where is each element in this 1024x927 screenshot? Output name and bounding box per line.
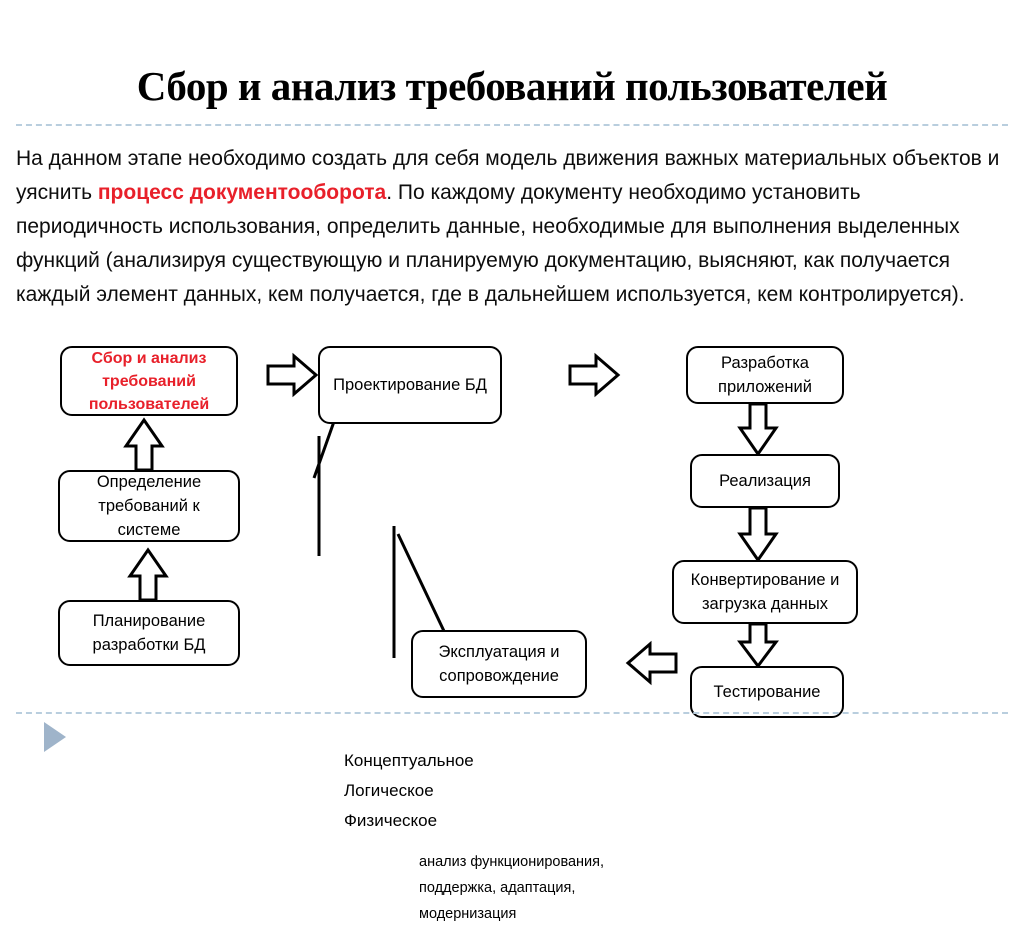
arrow-design-to-development (570, 356, 618, 394)
node-implementation[interactable]: Реализация (690, 454, 840, 508)
node-define-system-requirements[interactable]: Определение требований к системе (58, 470, 240, 542)
arrow-development-to-implementation (740, 404, 776, 454)
page-title: Сбор и анализ требований пользователей (0, 62, 1024, 110)
node-operation-support[interactable]: Эксплуатация и сопровождение (411, 630, 587, 698)
arrow-gather-to-design (268, 356, 316, 394)
node-testing[interactable]: Тестирование (690, 666, 844, 718)
footer-divider (16, 712, 1008, 714)
node-gather-analyze-requirements[interactable]: Сбор и анализ требований пользователей (60, 346, 238, 416)
title-divider (16, 124, 1008, 126)
annotation-design-levels: Концептуальное Логическое Физическое (344, 746, 474, 836)
lifecycle-diagram: Сбор и анализ требований пользователей О… (0, 318, 1024, 728)
node-db-design[interactable]: Проектирование БД (318, 346, 502, 424)
node-app-development[interactable]: Разработка приложений (686, 346, 844, 404)
annotation-maintenance-activities: анализ функционирования, поддержка, адап… (419, 849, 604, 927)
arrow-plan-to-define (130, 550, 166, 600)
node-data-conversion-loading[interactable]: Конвертирование и загрузка данных (672, 560, 858, 624)
body-text-highlight: процесс документооборота (98, 181, 386, 204)
arrow-define-to-gather (126, 420, 162, 470)
arrow-conversion-to-testing (740, 624, 776, 666)
body-paragraph: На данном этапе необходимо создать для с… (16, 142, 1008, 312)
arrow-testing-to-operation (628, 644, 676, 682)
arrow-implementation-to-conversion (740, 508, 776, 560)
node-plan-db-development[interactable]: Планирование разработки БД (58, 600, 240, 666)
next-slide-triangle-icon[interactable] (44, 722, 66, 752)
